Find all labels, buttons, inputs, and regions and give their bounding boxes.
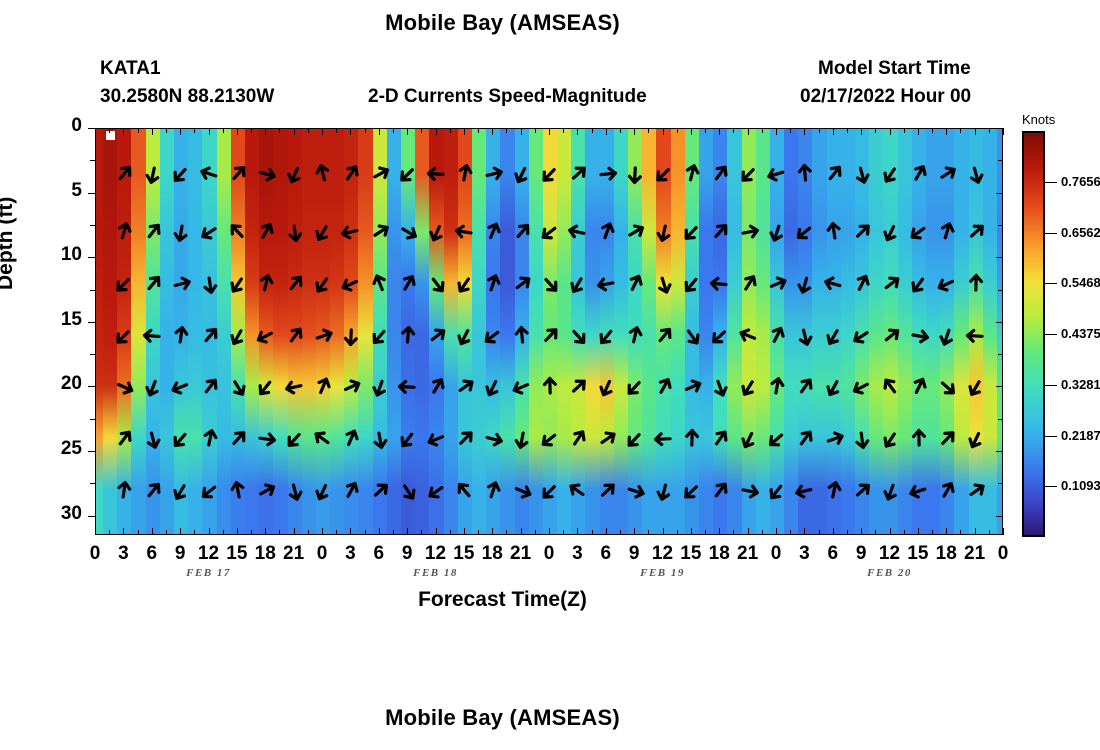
x-axis-tick	[549, 528, 550, 535]
y-axis-minor-tick	[90, 419, 95, 420]
y-axis-minor-tick	[90, 354, 95, 355]
colorbar-tick	[1045, 334, 1057, 335]
x-axis-tick	[180, 528, 181, 535]
x-axis-minor-tick	[733, 128, 734, 133]
x-axis-minor-tick	[592, 530, 593, 535]
x-axis-tick	[123, 528, 124, 535]
x-axis-minor-tick	[393, 128, 394, 133]
x-axis-tick	[861, 128, 862, 135]
x-axis-minor-tick	[563, 128, 564, 133]
model-start-time-value: 02/17/2022 Hour 00	[800, 86, 971, 108]
x-axis-minor-tick	[166, 128, 167, 133]
x-axis-minor-tick	[620, 530, 621, 535]
y-axis-tick-label: 15	[42, 309, 82, 331]
y-axis-minor-tick	[998, 354, 1003, 355]
x-axis-minor-tick	[393, 530, 394, 535]
y-axis-tick-label: 10	[42, 244, 82, 266]
y-axis-tick	[88, 322, 95, 323]
x-axis-minor-tick	[563, 530, 564, 535]
x-axis-minor-tick	[677, 128, 678, 133]
field-column	[997, 129, 1003, 534]
x-axis-tick	[833, 528, 834, 535]
x-axis-tick	[804, 528, 805, 535]
x-axis-tick	[180, 128, 181, 135]
x-axis-minor-tick	[166, 530, 167, 535]
x-axis-tick	[577, 528, 578, 535]
y-axis-tick	[88, 193, 95, 194]
y-axis-minor-tick	[90, 290, 95, 291]
page-title: Mobile Bay (AMSEAS)	[0, 10, 1005, 36]
x-axis-tick	[975, 128, 976, 135]
x-axis-tick	[294, 528, 295, 535]
y-axis-tick	[88, 451, 95, 452]
x-axis-tick	[861, 528, 862, 535]
x-axis-minor-tick	[365, 128, 366, 133]
x-axis-tick-label: 0	[983, 543, 1023, 565]
model-start-time-label: Model Start Time	[818, 58, 971, 80]
x-axis-tick	[946, 128, 947, 135]
station-id-label: KATA1	[100, 58, 161, 80]
x-axis-tick	[237, 528, 238, 535]
x-axis-tick	[663, 128, 664, 135]
x-axis-minor-tick	[450, 530, 451, 535]
x-axis-minor-tick	[762, 530, 763, 535]
colorbar-tick-label: 0.43750	[1061, 326, 1100, 341]
colorbar-tick	[1045, 436, 1057, 437]
x-axis-tick	[975, 528, 976, 535]
x-axis-tick	[776, 128, 777, 135]
x-axis-minor-tick	[705, 530, 706, 535]
x-axis-minor-tick	[535, 530, 536, 535]
surface-marker	[106, 131, 115, 140]
x-axis-minor-tick	[648, 128, 649, 133]
x-axis-minor-tick	[421, 128, 422, 133]
x-axis-tick	[322, 128, 323, 135]
x-axis-minor-tick	[365, 530, 366, 535]
x-axis-tick	[776, 528, 777, 535]
x-axis-minor-tick	[535, 128, 536, 133]
x-axis-minor-tick	[677, 530, 678, 535]
y-axis-tick	[996, 322, 1003, 323]
y-axis-title: Depth (ft)	[0, 197, 18, 290]
x-axis-minor-tick	[960, 128, 961, 133]
y-axis-tick-label: 0	[42, 115, 82, 137]
x-axis-minor-tick	[308, 530, 309, 535]
x-axis-tick	[379, 528, 380, 535]
x-axis-tick	[890, 528, 891, 535]
y-axis-tick	[996, 516, 1003, 517]
x-axis-minor-tick	[989, 530, 990, 535]
chart-subtitle: 2-D Currents Speed-Magnitude	[368, 86, 647, 108]
heatmap-plot-area	[95, 128, 1003, 535]
y-axis-tick	[996, 451, 1003, 452]
colorbar-tick-label: 0.10937	[1061, 478, 1100, 493]
x-axis-day-label: FEB 19	[618, 567, 708, 579]
y-axis-tick	[996, 386, 1003, 387]
x-axis-minor-tick	[875, 128, 876, 133]
x-axis-tick	[634, 128, 635, 135]
y-axis-tick	[88, 257, 95, 258]
colorbar-tick-label: 0.76562	[1061, 174, 1100, 189]
x-axis-tick	[634, 528, 635, 535]
x-axis-tick	[436, 128, 437, 135]
colorbar	[1022, 131, 1045, 537]
y-axis-tick	[88, 128, 95, 129]
x-axis-tick	[691, 528, 692, 535]
x-axis-minor-tick	[733, 530, 734, 535]
x-axis-tick	[946, 528, 947, 535]
x-axis-minor-tick	[620, 128, 621, 133]
x-axis-minor-tick	[450, 128, 451, 133]
x-axis-minor-tick	[819, 128, 820, 133]
y-axis-tick-label: 20	[42, 373, 82, 395]
x-axis-minor-tick	[478, 530, 479, 535]
colorbar-tick-label: 0.65625	[1061, 225, 1100, 240]
colorbar-gradient	[1024, 133, 1043, 535]
x-axis-tick	[209, 128, 210, 135]
x-axis-minor-tick	[308, 128, 309, 133]
x-axis-minor-tick	[251, 128, 252, 133]
x-axis-tick	[294, 128, 295, 135]
x-axis-day-label: FEB 18	[391, 567, 481, 579]
colorbar-tick-label: 0.21875	[1061, 428, 1100, 443]
x-axis-minor-tick	[478, 128, 479, 133]
x-axis-minor-tick	[592, 128, 593, 133]
x-axis-minor-tick	[223, 530, 224, 535]
x-axis-minor-tick	[138, 530, 139, 535]
y-axis-tick	[996, 128, 1003, 129]
y-axis-minor-tick	[90, 160, 95, 161]
x-axis-minor-tick	[960, 530, 961, 535]
x-axis-tick	[890, 128, 891, 135]
x-axis-tick	[804, 128, 805, 135]
y-axis-tick	[996, 257, 1003, 258]
x-axis-minor-tick	[762, 128, 763, 133]
x-axis-tick	[1003, 128, 1004, 135]
x-axis-tick	[265, 528, 266, 535]
x-axis-minor-tick	[847, 128, 848, 133]
chart-page: Mobile Bay (AMSEAS) KATA1 30.2580N 88.21…	[0, 0, 1100, 750]
x-axis-minor-tick	[648, 530, 649, 535]
x-axis-minor-tick	[223, 128, 224, 133]
x-axis-minor-tick	[279, 530, 280, 535]
colorbar-tick	[1045, 385, 1057, 386]
y-axis-tick-label: 5	[42, 180, 82, 202]
x-axis-tick	[549, 128, 550, 135]
x-axis-tick	[464, 528, 465, 535]
y-axis-minor-tick	[998, 483, 1003, 484]
x-axis-minor-tick	[932, 530, 933, 535]
x-axis-title: Forecast Time(Z)	[0, 588, 1005, 612]
x-axis-tick	[436, 528, 437, 535]
x-axis-day-label: FEB 20	[845, 567, 935, 579]
x-axis-minor-tick	[932, 128, 933, 133]
y-axis-minor-tick	[90, 225, 95, 226]
x-axis-tick	[833, 128, 834, 135]
y-axis-tick-label: 30	[42, 503, 82, 525]
x-axis-tick	[663, 528, 664, 535]
y-axis-tick	[996, 193, 1003, 194]
x-axis-tick	[95, 128, 96, 135]
x-axis-tick	[492, 528, 493, 535]
y-axis-tick	[88, 386, 95, 387]
x-axis-tick	[521, 128, 522, 135]
x-axis-tick	[464, 128, 465, 135]
colorbar-tick	[1045, 182, 1057, 183]
x-axis-tick	[152, 528, 153, 535]
x-axis-minor-tick	[875, 530, 876, 535]
x-axis-tick	[407, 528, 408, 535]
x-axis-tick	[95, 528, 96, 535]
x-axis-minor-tick	[251, 530, 252, 535]
y-axis-minor-tick	[998, 290, 1003, 291]
x-axis-minor-tick	[904, 530, 905, 535]
x-axis-day-label: FEB 17	[164, 567, 254, 579]
x-axis-tick	[123, 128, 124, 135]
x-axis-minor-tick	[506, 128, 507, 133]
x-axis-tick	[379, 128, 380, 135]
x-axis-tick	[748, 528, 749, 535]
x-axis-minor-tick	[194, 128, 195, 133]
x-axis-tick	[152, 128, 153, 135]
x-axis-minor-tick	[847, 530, 848, 535]
x-axis-tick	[350, 128, 351, 135]
y-axis-tick	[88, 516, 95, 517]
x-axis-minor-tick	[506, 530, 507, 535]
x-axis-minor-tick	[904, 128, 905, 133]
x-axis-minor-tick	[138, 128, 139, 133]
x-axis-tick	[265, 128, 266, 135]
x-axis-minor-tick	[336, 128, 337, 133]
x-axis-minor-tick	[790, 128, 791, 133]
colorbar-title: Knots	[1022, 112, 1055, 127]
colorbar-tick	[1045, 486, 1057, 487]
x-axis-tick	[719, 528, 720, 535]
station-coords-label: 30.2580N 88.2130W	[100, 86, 274, 108]
x-axis-tick	[407, 128, 408, 135]
x-axis-tick	[606, 128, 607, 135]
y-axis-minor-tick	[998, 419, 1003, 420]
x-axis-tick	[748, 128, 749, 135]
x-axis-minor-tick	[705, 128, 706, 133]
x-axis-tick	[577, 128, 578, 135]
x-axis-tick	[350, 528, 351, 535]
x-axis-tick	[209, 528, 210, 535]
y-axis-minor-tick	[998, 160, 1003, 161]
colorbar-tick-label: 0.54687	[1061, 275, 1100, 290]
x-axis-minor-tick	[279, 128, 280, 133]
x-axis-tick	[606, 528, 607, 535]
y-axis-tick-label: 25	[42, 438, 82, 460]
x-axis-tick	[691, 128, 692, 135]
x-axis-minor-tick	[989, 128, 990, 133]
y-axis-minor-tick	[998, 225, 1003, 226]
x-axis-tick	[918, 528, 919, 535]
x-axis-minor-tick	[790, 530, 791, 535]
y-axis-minor-tick	[90, 483, 95, 484]
colorbar-tick-label: 0.32812	[1061, 377, 1100, 392]
x-axis-minor-tick	[819, 530, 820, 535]
colorbar-tick	[1045, 233, 1057, 234]
x-axis-tick	[1003, 528, 1004, 535]
x-axis-minor-tick	[194, 530, 195, 535]
x-axis-tick	[237, 128, 238, 135]
colorbar-tick	[1045, 283, 1057, 284]
x-axis-minor-tick	[109, 128, 110, 133]
x-axis-tick	[918, 128, 919, 135]
x-axis-minor-tick	[109, 530, 110, 535]
footer-title: Mobile Bay (AMSEAS)	[0, 705, 1005, 731]
x-axis-tick	[521, 528, 522, 535]
x-axis-minor-tick	[421, 530, 422, 535]
x-axis-tick	[492, 128, 493, 135]
x-axis-minor-tick	[336, 530, 337, 535]
x-axis-tick	[322, 528, 323, 535]
x-axis-tick	[719, 128, 720, 135]
